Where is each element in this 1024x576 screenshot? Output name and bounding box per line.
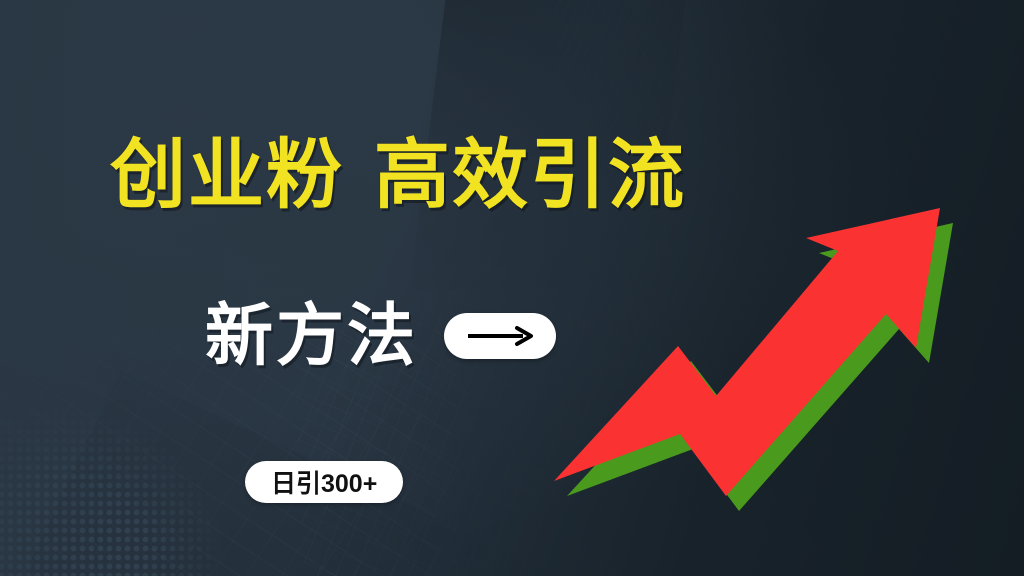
arrow-right-pill-button[interactable] xyxy=(444,313,556,359)
growth-arrow-front-shape xyxy=(554,208,940,496)
subline: 新方法 xyxy=(205,302,556,370)
headline: 创业粉高效引流 xyxy=(110,138,686,214)
headline-part-two: 高效引流 xyxy=(374,133,686,218)
headline-part-one: 创业粉 xyxy=(110,133,344,218)
status-badge: 日引300+ xyxy=(245,461,403,503)
subline-text: 新方法 xyxy=(205,302,418,370)
growth-arrow-graphic xyxy=(548,196,968,496)
arrow-right-icon xyxy=(465,326,535,346)
promo-banner: 创业粉高效引流 新方法 日引300+ xyxy=(0,0,1024,576)
badge-text: 日引300+ xyxy=(271,464,377,500)
